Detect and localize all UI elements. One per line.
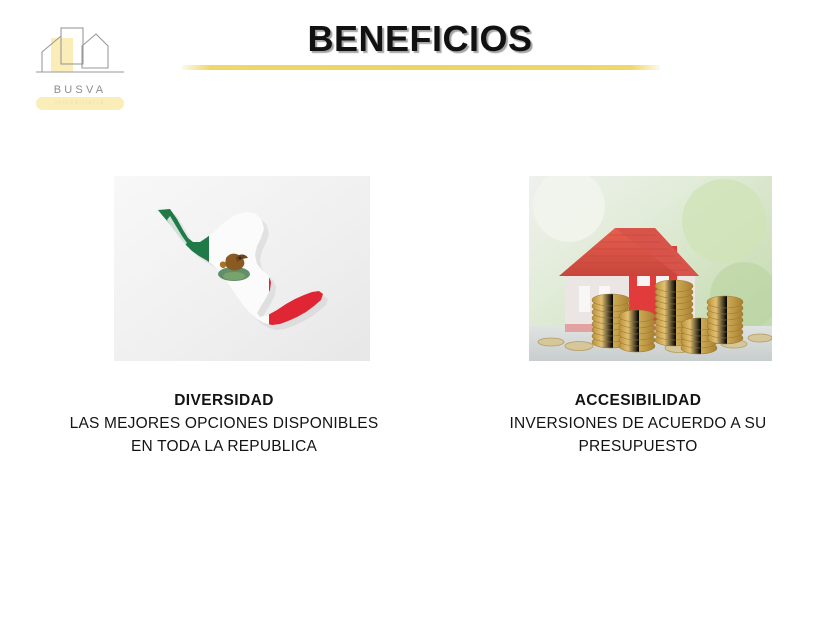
caption-line-1: INVERSIONES DE ACUERDO A SU <box>452 412 824 435</box>
mexico-map-flag-image <box>114 176 370 361</box>
brand-logo: BUSVA inmobiliaria <box>28 24 132 116</box>
house-and-coins-image <box>529 176 772 361</box>
caption-line-2: EN TODA LA REPUBLICA <box>22 435 426 458</box>
title-underline-rule <box>182 65 660 70</box>
caption-title: ACCESIBILIDAD <box>452 390 824 412</box>
caption-line-1: LAS MEJORES OPCIONES DISPONIBLES <box>22 412 426 435</box>
caption-diversidad: DIVERSIDAD LAS MEJORES OPCIONES DISPONIB… <box>22 390 426 458</box>
slide-canvas: BUSVA inmobiliaria BENEFICIOS <box>0 0 840 630</box>
brand-tagline: inmobiliaria <box>36 98 124 109</box>
page-title: BENEFICIOS <box>180 18 660 60</box>
caption-accesibilidad: ACCESIBILIDAD INVERSIONES DE ACUERDO A S… <box>452 390 824 458</box>
building-outline-logo-icon <box>28 24 132 86</box>
brand-name: BUSVA <box>28 84 132 96</box>
caption-line-2: PRESUPUESTO <box>452 435 824 458</box>
caption-title: DIVERSIDAD <box>22 390 426 412</box>
